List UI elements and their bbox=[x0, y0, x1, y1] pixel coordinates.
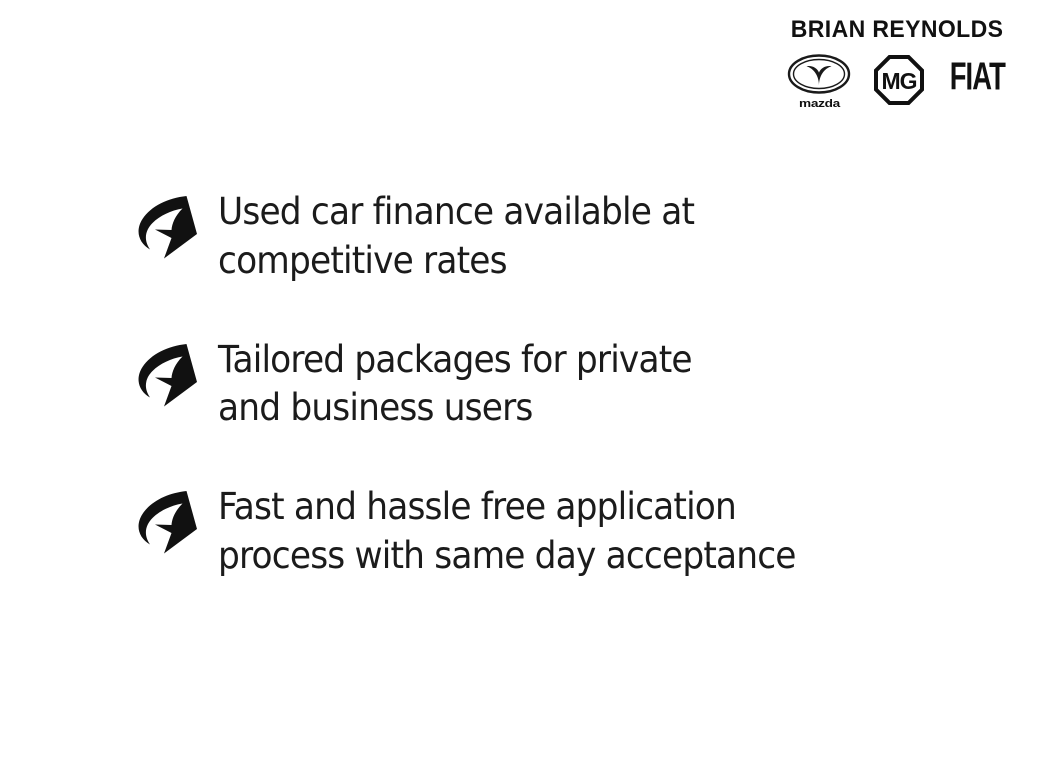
list-item: Used car finance available at competitiv… bbox=[128, 186, 958, 286]
dealer-branding: BRIAN REYNOLDS mazda MG bbox=[786, 18, 1008, 111]
finance-benefits-list: Used car finance available at competitiv… bbox=[128, 186, 958, 581]
mazda-logo-icon bbox=[787, 54, 851, 99]
mg-logo-icon: MG bbox=[874, 55, 924, 110]
marque-fiat: FIAT bbox=[946, 54, 1008, 95]
list-item: Tailored packages for private and busine… bbox=[128, 334, 958, 434]
curved-arrow-icon bbox=[128, 192, 200, 264]
curved-arrow-icon bbox=[128, 487, 200, 559]
curved-arrow-icon bbox=[128, 340, 200, 412]
marque-logo-row: mazda MG FIAT bbox=[786, 54, 1008, 111]
list-item-text: Tailored packages for private and busine… bbox=[218, 334, 906, 434]
list-item-text: Fast and hassle free application process… bbox=[218, 481, 906, 581]
slide-canvas: BRIAN REYNOLDS mazda MG bbox=[0, 0, 1040, 780]
mazda-wordmark: mazda bbox=[799, 98, 840, 109]
marque-mazda: mazda bbox=[786, 54, 852, 111]
list-item-text: Used car finance available at competitiv… bbox=[218, 186, 906, 286]
marque-mg: MG bbox=[873, 54, 925, 110]
list-item: Fast and hassle free application process… bbox=[128, 481, 958, 581]
dealer-name: BRIAN REYNOLDS bbox=[791, 18, 1004, 43]
fiat-logo-icon: FIAT bbox=[949, 56, 1004, 95]
svg-text:MG: MG bbox=[881, 68, 916, 94]
